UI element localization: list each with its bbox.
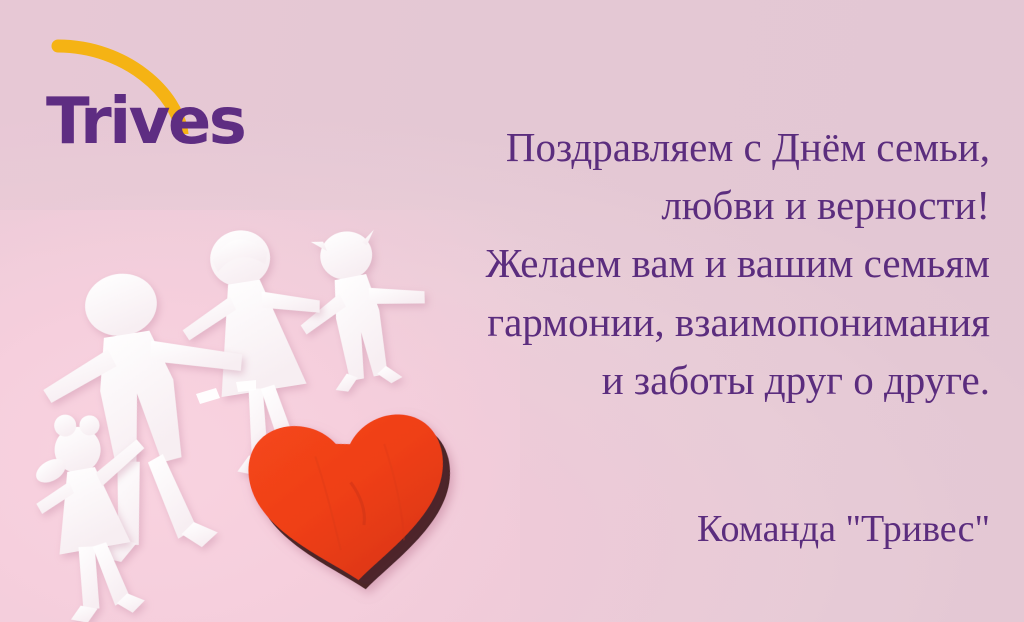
greeting-message: Поздравляем с Днём семьи, любви и вернос… [390,118,990,409]
paper-girl [22,402,173,622]
logo-wordmark: Trives [46,90,244,154]
red-heart [243,407,463,601]
greeting-line-5: и заботы друг о друге. [390,351,990,409]
signature-line: Команда "Тривес" [697,505,990,554]
greeting-line-4: гармонии, взаимопонимания [390,293,990,351]
trives-logo[interactable]: Trives [30,34,260,164]
greeting-line-1: Поздравляем с Днём семьи, [390,118,990,176]
greeting-line-2: любви и верности! [390,176,990,234]
greeting-card: Trives Поздравляем с Днём семьи, любви и… [0,0,1024,622]
greeting-line-3: Желаем вам и вашим семьям [390,234,990,292]
